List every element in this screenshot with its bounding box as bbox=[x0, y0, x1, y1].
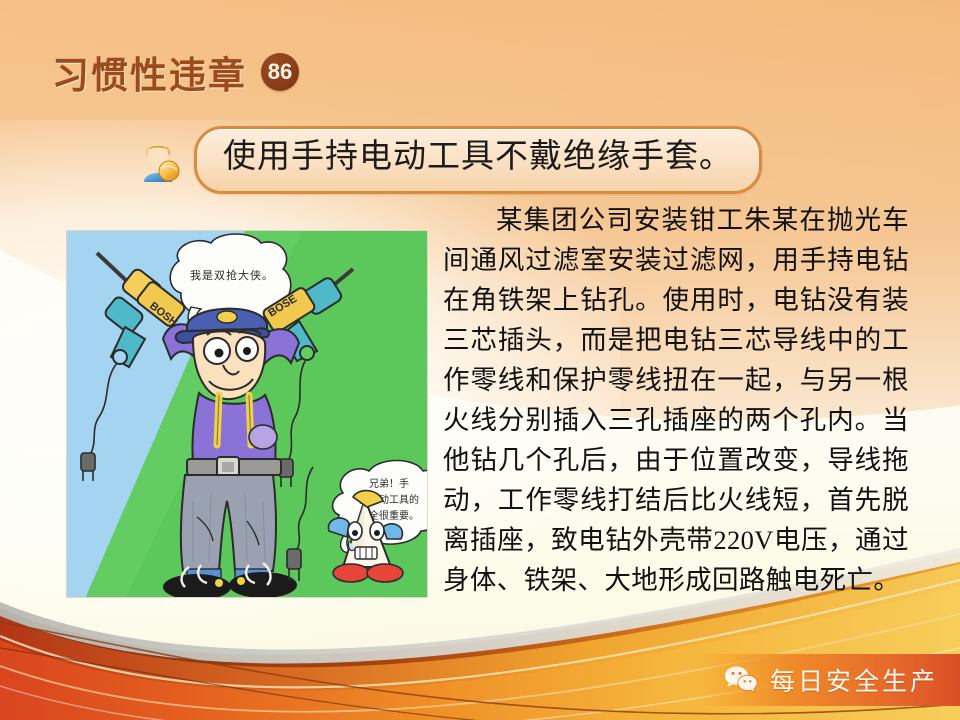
wechat-icon bbox=[724, 665, 758, 695]
svg-text:我是双抢大侠。: 我是双抢大侠。 bbox=[190, 268, 274, 282]
illustration-cartoon: 我是双抢大侠。 BOSH B bbox=[66, 230, 428, 598]
svg-text:兄弟！手: 兄弟！手 bbox=[369, 477, 409, 490]
chapter-number-badge: 86 bbox=[261, 53, 299, 91]
subtitle-banner: 使用手持电动工具不戴绝缘手套。 bbox=[136, 126, 762, 194]
user-icon bbox=[136, 137, 180, 183]
page-header: 习惯性违章 86 bbox=[52, 45, 299, 99]
slide-root: 习惯性违章 86 bbox=[0, 0, 960, 720]
page-title: 习惯性违章 bbox=[52, 45, 247, 99]
subtitle-pill: 使用手持电动工具不戴绝缘手套。 bbox=[194, 126, 762, 194]
footer-label: 每日安全生产 bbox=[770, 662, 938, 698]
subtitle-text: 使用手持电动工具不戴绝缘手套。 bbox=[223, 138, 733, 178]
case-description-text: 某集团公司安装钳工朱某在抛光车间通风过滤室安装过滤网，用手持电钻在角铁架上钻孔。… bbox=[443, 200, 909, 600]
illustration-svg: 我是双抢大侠。 BOSH B bbox=[67, 231, 428, 598]
footer-bar: 每日安全生产 bbox=[698, 654, 960, 706]
